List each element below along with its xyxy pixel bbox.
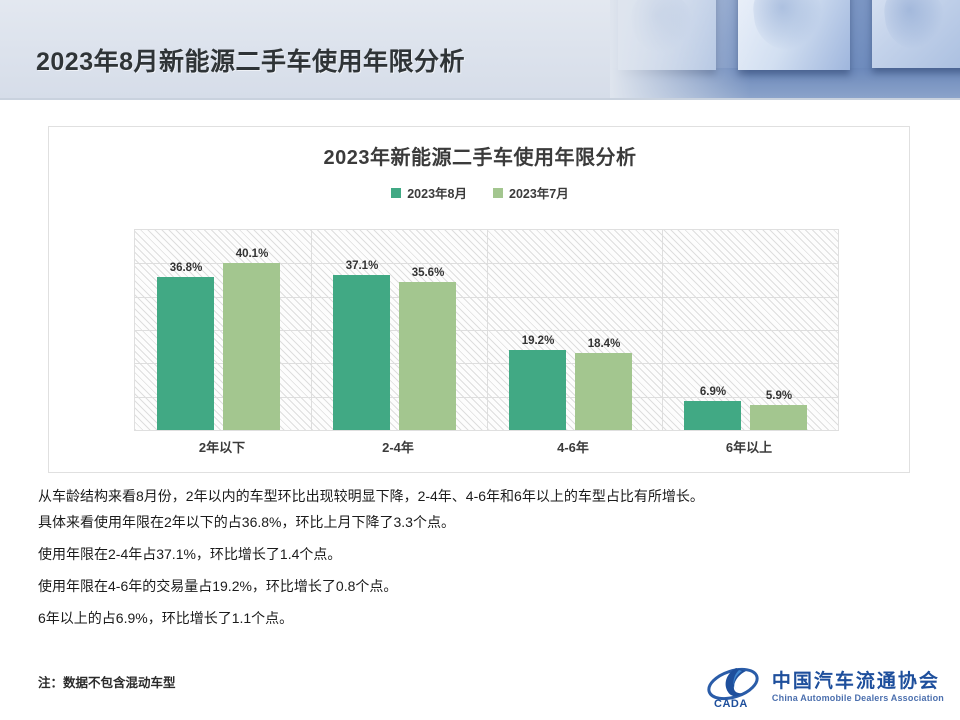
bar[interactable] (575, 353, 632, 430)
chart-panel: 2023年新能源二手车使用年限分析 2023年8月 2023年7月 36.8%4… (48, 126, 910, 473)
globe-map-icon (882, 0, 948, 53)
bar-group: 6.9%5.9% (662, 230, 838, 430)
cube-icon (872, 0, 960, 68)
legend-item[interactable]: 2023年7月 (493, 183, 569, 202)
bar-group: 19.2%18.4% (487, 230, 663, 430)
bar-value-label: 18.4% (564, 338, 644, 350)
svg-text:CADA: CADA (714, 698, 748, 710)
bar-value-label: 40.1% (212, 248, 292, 260)
analysis-paragraph: 使用年限在2-4年占37.1%，环比增长了1.4个点。 (38, 544, 928, 564)
chart-category-axis: 2年以下2-4年4-6年6年以上 (134, 437, 839, 463)
bar[interactable] (399, 282, 456, 430)
analysis-text: 从车龄结构来看8月份，2年以内的车型环比出现较明显下降，2-4年、4-6年和6年… (38, 486, 928, 640)
bar[interactable] (509, 350, 566, 430)
analysis-paragraph: 使用年限在4-6年的交易量占19.2%，环比增长了0.8个点。 (38, 576, 928, 596)
chart-plot-area: 36.8%40.1%37.1%35.6%19.2%18.4%6.9%5.9% (134, 229, 839, 431)
bar[interactable] (684, 401, 741, 430)
category-label: 6年以上 (669, 437, 829, 456)
category-label: 2-4年 (318, 437, 478, 456)
legend-label: 2023年7月 (509, 183, 569, 202)
chart-title: 2023年新能源二手车使用年限分析 (49, 141, 911, 170)
globe-map-icon (750, 0, 826, 53)
bar[interactable] (223, 263, 280, 430)
page-header: 2023年8月新能源二手车使用年限分析 (0, 0, 960, 98)
bar[interactable] (157, 277, 214, 430)
cube-icon (738, 0, 850, 70)
analysis-paragraph: 6年以上的占6.9%，环比增长了1.1个点。 (38, 608, 928, 628)
category-label: 4-6年 (493, 437, 653, 456)
legend-swatch-icon (391, 188, 401, 198)
page-title: 2023年8月新能源二手车使用年限分析 (36, 42, 465, 78)
legend-label: 2023年8月 (407, 183, 467, 202)
footnote: 注：数据不包含混动车型 (38, 672, 176, 691)
logo-english-name: China Automobile Dealers Association (772, 694, 944, 703)
bar-value-label: 5.9% (739, 390, 819, 402)
analysis-paragraph: 具体来看使用年限在2年以下的占36.8%，环比上月下降了3.3个点。 (38, 512, 928, 532)
analysis-paragraph: 从车龄结构来看8月份，2年以内的车型环比出现较明显下降，2-4年、4-6年和6年… (38, 486, 928, 506)
bar[interactable] (333, 275, 390, 430)
association-logo: CADA 中国汽车流通协会 China Automobile Dealers A… (706, 664, 944, 710)
bar-value-label: 35.6% (388, 267, 468, 279)
bar-group: 36.8%40.1% (135, 230, 311, 430)
banner-fade-overlay (610, 0, 750, 98)
legend-item[interactable]: 2023年8月 (391, 183, 467, 202)
cada-swoosh-logo-icon: CADA (706, 664, 764, 710)
chart-legend: 2023年8月 2023年7月 (49, 183, 911, 202)
logo-chinese-name: 中国汽车流通协会 (772, 672, 944, 691)
category-label: 2年以下 (142, 437, 302, 456)
bar-value-label: 36.8% (146, 262, 226, 274)
legend-swatch-icon (493, 188, 503, 198)
header-divider (0, 98, 960, 100)
chart-bars: 36.8%40.1%37.1%35.6%19.2%18.4%6.9%5.9% (135, 230, 838, 430)
bar-group: 37.1%35.6% (311, 230, 487, 430)
bar[interactable] (750, 405, 807, 430)
banner-cubes-image (610, 0, 960, 98)
